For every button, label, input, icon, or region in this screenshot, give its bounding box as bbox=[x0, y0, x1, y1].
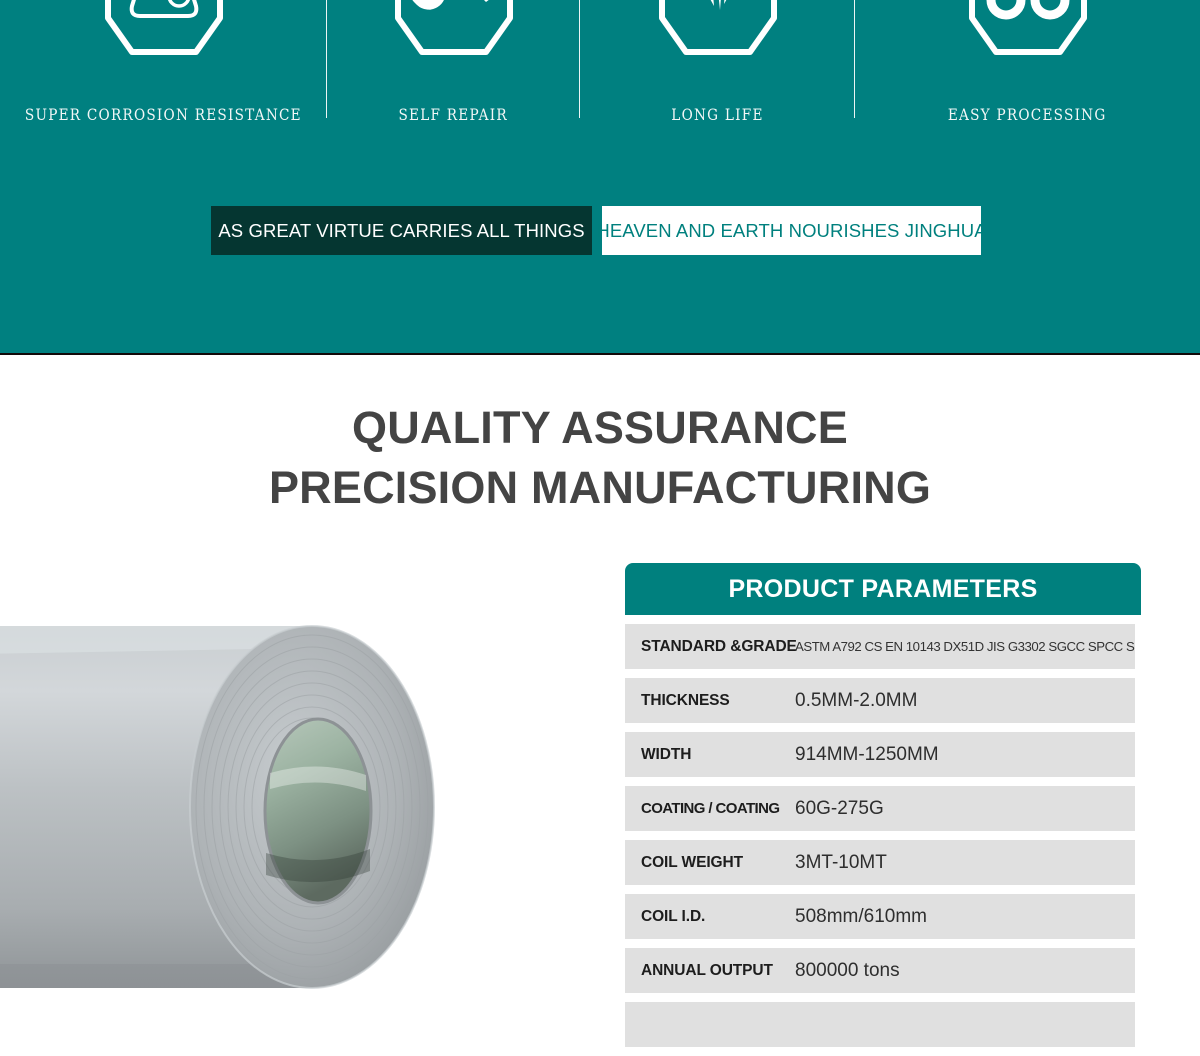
table-row-value: 0.5MM-2.0MM bbox=[795, 690, 1135, 712]
slogan-secondary-button[interactable]: HEAVEN AND EARTH NOURISHES JINGHUA bbox=[602, 206, 981, 255]
table-row-label: STANDARD &GRADE bbox=[625, 638, 795, 656]
table-row: COIL WEIGHT 3MT-10MT bbox=[625, 840, 1135, 885]
table-row-value: 800000 tons bbox=[795, 960, 1135, 982]
page-title-line-2: PRECISION MANUFACTURING bbox=[0, 458, 1200, 518]
table-row-value: 3MT-10MT bbox=[795, 852, 1135, 874]
table-row-value: 508mm/610mm bbox=[795, 906, 1135, 928]
feature-label: SUPER CORROSION RESISTANCE bbox=[25, 106, 302, 124]
table-row: ANNUAL OUTPUT 800000 tons bbox=[625, 948, 1135, 993]
feature-label: EASY PROCESSING bbox=[948, 106, 1107, 124]
product-coil-image bbox=[0, 608, 542, 1006]
feature-item-self-repair: SELF REPAIR bbox=[327, 0, 580, 128]
table-row-label: THICKNESS bbox=[625, 692, 795, 710]
feature-item-corrosion: SUPER CORROSION RESISTANCE bbox=[0, 0, 327, 128]
page-title-line-1: QUALITY ASSURANCE bbox=[0, 398, 1200, 458]
table-header: PRODUCT PARAMETERS bbox=[625, 563, 1141, 615]
table-row-value: 60G-275G bbox=[795, 798, 1135, 820]
flask-hexagon-icon bbox=[80, 0, 248, 94]
feature-item-easy-processing: EASY PROCESSING bbox=[855, 0, 1200, 128]
slogan-gap bbox=[592, 206, 602, 207]
table-row: COATING / COATING 60G-275G bbox=[625, 786, 1135, 831]
slogan-group: AS GREAT VIRTUE CARRIES ALL THINGS HEAVE… bbox=[211, 206, 981, 255]
table-row-label: ANNUAL OUTPUT bbox=[625, 962, 795, 980]
feature-label: LONG LIFE bbox=[671, 106, 763, 124]
wrench-screwdriver-hexagon-icon bbox=[370, 0, 538, 94]
banner-bottom-rule bbox=[0, 353, 1200, 355]
feature-banner: SUPER CORROSION RESISTANCE SELF REPAIR bbox=[0, 0, 1200, 353]
product-parameters-table: PRODUCT PARAMETERS STANDARD &GRADE ASTM … bbox=[625, 563, 1141, 1056]
table-row-value: ASTM A792 CS EN 10143 DX51D JIS G3302 SG… bbox=[795, 639, 1135, 654]
scissors-hexagon-icon bbox=[944, 0, 1112, 94]
feature-item-long-life: LONG LIFE bbox=[580, 0, 855, 128]
table-body: STANDARD &GRADE ASTM A792 CS EN 10143 DX… bbox=[625, 624, 1135, 1047]
table-row-label: COIL WEIGHT bbox=[625, 854, 795, 872]
table-row-label: COATING / COATING bbox=[625, 800, 795, 817]
table-row-label: COIL I.D. bbox=[625, 908, 795, 926]
table-row-label: WIDTH bbox=[625, 746, 795, 764]
page-title: QUALITY ASSURANCE PRECISION MANUFACTURIN… bbox=[0, 398, 1200, 518]
table-row: COIL I.D. 508mm/610mm bbox=[625, 894, 1135, 939]
table-row: THICKNESS 0.5MM-2.0MM bbox=[625, 678, 1135, 723]
table-row bbox=[625, 1002, 1135, 1047]
table-row: STANDARD &GRADE ASTM A792 CS EN 10143 DX… bbox=[625, 624, 1135, 669]
table-row: WIDTH 914MM-1250MM bbox=[625, 732, 1135, 777]
slogan-primary-button[interactable]: AS GREAT VIRTUE CARRIES ALL THINGS bbox=[211, 206, 592, 255]
diamond-hexagon-icon bbox=[634, 0, 802, 94]
feature-label: SELF REPAIR bbox=[399, 106, 508, 124]
feature-list: SUPER CORROSION RESISTANCE SELF REPAIR bbox=[0, 0, 1200, 128]
table-row-value: 914MM-1250MM bbox=[795, 744, 1135, 766]
